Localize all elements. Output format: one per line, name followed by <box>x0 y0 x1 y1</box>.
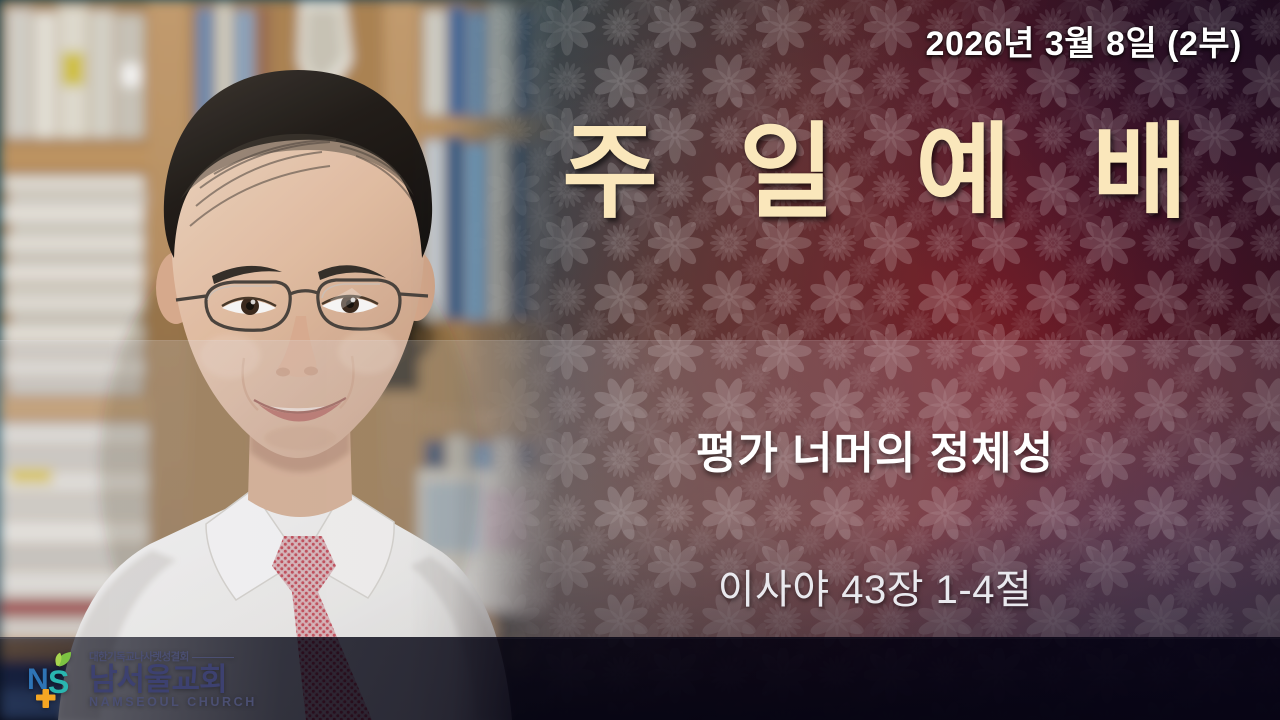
service-date: 2026년 3월 8일 (2부) <box>926 16 1242 65</box>
church-logo: N S 대한기독교나사렛성결회 남서울교회 NAMSEOUL CHURCH <box>26 652 257 710</box>
ns-monogram-icon: N S <box>26 652 82 710</box>
logo-rule <box>192 657 234 659</box>
worship-title-slide: 馬 書 <box>0 0 1280 720</box>
logo-denomination-text: 대한기독교나사렛성결회 <box>89 652 189 663</box>
scripture-reference: 이사야 43장 1-4절 <box>470 557 1280 615</box>
logo-text-block: 대한기독교나사렛성결회 남서울교회 NAMSEOUL CHURCH <box>89 652 257 710</box>
sermon-title: 평가 너머의 정체성 <box>470 417 1280 481</box>
logo-church-name-ko: 남서울교회 <box>89 664 257 696</box>
logo-church-name-en: NAMSEOUL CHURCH <box>89 696 257 710</box>
page-title: 주 일 예 배 <box>470 112 1280 235</box>
logo-denomination-row: 대한기독교나사렛성결회 <box>89 652 257 663</box>
